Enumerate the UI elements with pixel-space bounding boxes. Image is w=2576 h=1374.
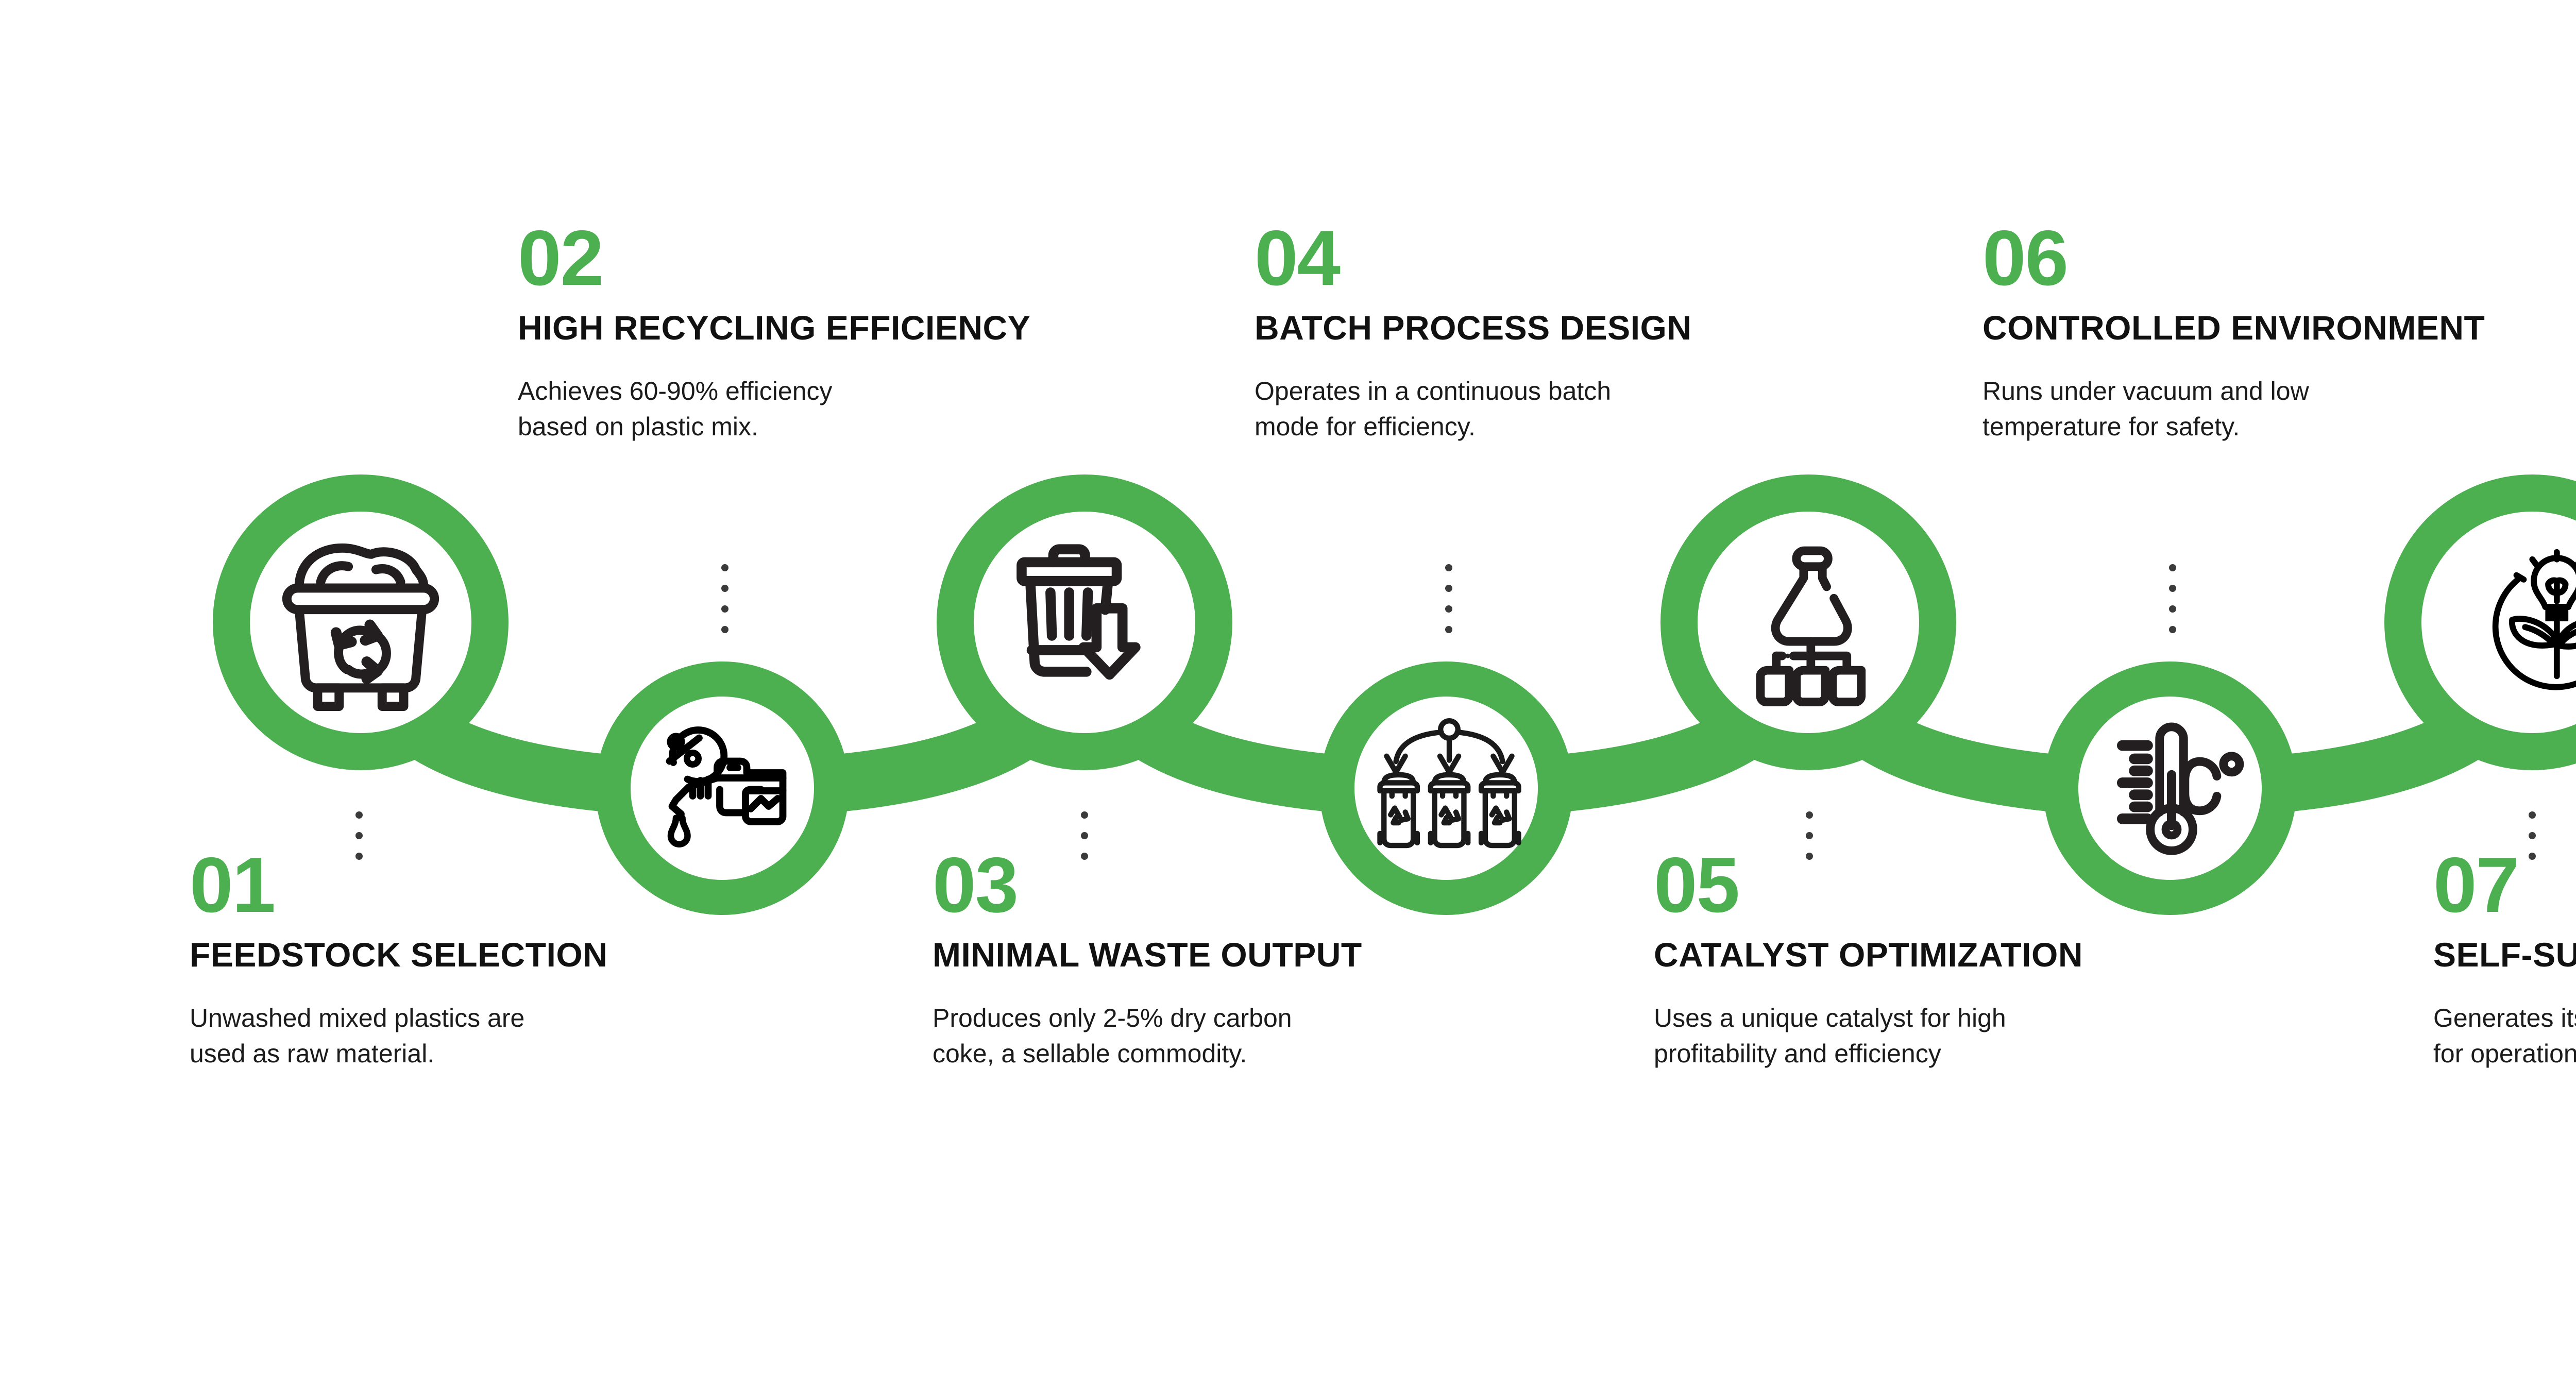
step-03-number: 03 <box>933 846 1499 924</box>
step-01-description: Unwashed mixed plastics are used as raw … <box>190 1000 731 1072</box>
step-07-title: SELF-SUSTAINING ENERGY <box>2433 938 2576 972</box>
step-06-title: CONTROLLED ENVIRONMENT <box>1982 311 2576 345</box>
step-06-description: Runs under vacuum and low temperature fo… <box>1982 374 2576 445</box>
step-02-number: 02 <box>518 219 1126 297</box>
step-03-description: Produces only 2-5% dry carbon coke, a se… <box>933 1000 1499 1072</box>
step-05-title: CATALYST OPTIMIZATION <box>1654 938 2221 972</box>
dotted-connector-4 <box>1445 564 1452 647</box>
step-07-number: 07 <box>2433 846 2576 924</box>
step-04-description: Operates in a continuous batch mode for … <box>1255 374 1821 445</box>
infographic-canvas: 01 FEEDSTOCK SELECTION Unwashed mixed pl… <box>0 0 2576 1374</box>
step-06-number: 06 <box>1982 219 2576 297</box>
step-01: 01 FEEDSTOCK SELECTION Unwashed mixed pl… <box>190 846 731 1072</box>
dumpster-recycling-icon <box>268 536 453 711</box>
step-05-description: Uses a unique catalyst for high profitab… <box>1654 1000 2221 1072</box>
step-04-title: BATCH PROCESS DESIGN <box>1255 311 1821 345</box>
flask-distribution-icon <box>1739 544 1909 714</box>
step-04: 04 BATCH PROCESS DESIGN Operates in a co… <box>1255 219 1821 445</box>
step-07: 07 SELF-SUSTAINING ENERGY Generates its … <box>2433 846 2576 1072</box>
dotted-connector-2 <box>721 564 728 647</box>
step-07-description: Generates its own gas and fuel for opera… <box>2433 1000 2576 1072</box>
step-02-description: Achieves 60-90% efficiency based on plas… <box>518 374 1126 445</box>
step-04-number: 04 <box>1255 219 1821 297</box>
step-02: 02 HIGH RECYCLING EFFICIENCY Achieves 60… <box>518 219 1126 445</box>
step-01-title: FEEDSTOCK SELECTION <box>190 938 731 972</box>
thermometer-celsius-icon <box>2094 716 2249 866</box>
step-02-title: HIGH RECYCLING EFFICIENCY <box>518 311 1126 345</box>
step-03: 03 MINIMAL WASTE OUTPUT Produces only 2-… <box>933 846 1499 1072</box>
step-05-number: 05 <box>1654 846 2221 924</box>
step-03-title: MINIMAL WASTE OUTPUT <box>933 938 1499 972</box>
step-01-number: 01 <box>190 846 731 924</box>
fuel-nozzle-percent-icon <box>645 719 800 863</box>
trash-can-down-arrow-icon <box>1007 544 1177 714</box>
step-06: 06 CONTROLLED ENVIRONMENT Runs under vac… <box>1982 219 2576 445</box>
lightbulb-plant-cycle-icon <box>2470 544 2576 714</box>
step-05: 05 CATALYST OPTIMIZATION Uses a unique c… <box>1654 846 2221 1072</box>
three-recycling-bins-icon <box>1372 716 1527 866</box>
dotted-connector-6 <box>2169 564 2176 647</box>
